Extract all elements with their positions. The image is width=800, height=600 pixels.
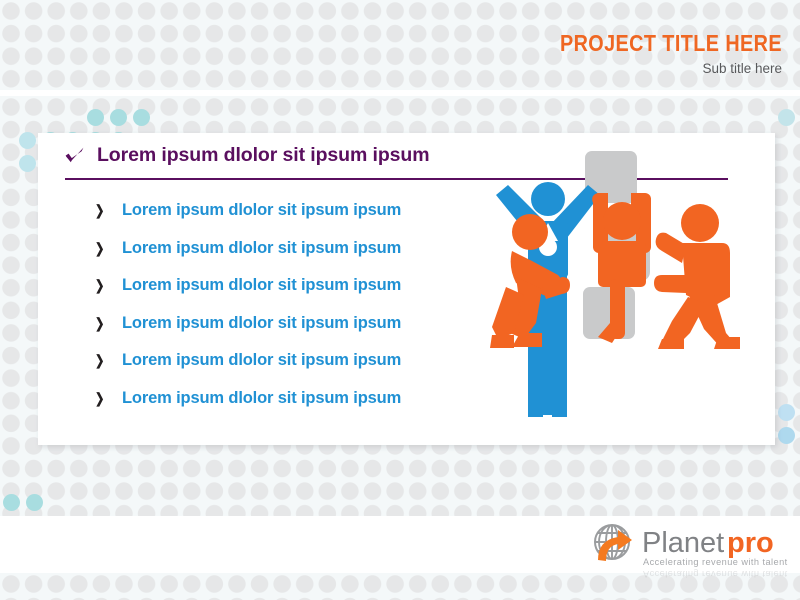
accent-dot (26, 494, 43, 511)
logo-tagline: Accelerating revenue with talent (643, 557, 788, 567)
page-title: PROJECT TITLE HERE (109, 30, 782, 56)
content-card: Lorem ipsum dlolor sit ipsum ipsum ❯ Lor… (38, 133, 775, 445)
list-item: ❯ Lorem ipsum dlolor sit ipsum ipsum (92, 237, 512, 275)
logo-tagline-reflection: Accelerating revenue with talent (643, 569, 788, 578)
list-item-label: Lorem ipsum dlolor sit ipsum ipsum (122, 274, 401, 296)
logo-word-two: pro (727, 527, 774, 559)
list-item: ❯ Lorem ipsum dlolor sit ipsum ipsum (92, 349, 512, 387)
card-heading-text: Lorem ipsum dlolor sit ipsum ipsum (97, 144, 429, 167)
accent-dot (133, 109, 150, 126)
chevron-right-icon: ❯ (95, 274, 119, 296)
list-item-label: Lorem ipsum dlolor sit ipsum ipsum (122, 199, 401, 221)
check-icon (64, 145, 86, 167)
chevron-right-icon: ❯ (95, 312, 119, 334)
team-member-right (654, 204, 740, 349)
accent-dot (87, 109, 104, 126)
accent-dot (778, 427, 795, 444)
list-item: ❯ Lorem ipsum dlolor sit ipsum ipsum (92, 274, 512, 312)
chevron-right-icon: ❯ (95, 199, 119, 221)
list-item-label: Lorem ipsum dlolor sit ipsum ipsum (122, 349, 401, 371)
accent-dot (778, 404, 795, 421)
accent-dot (778, 109, 795, 126)
logo-svg: Planet pro Accelerating revenue with tal… (588, 520, 788, 578)
chevron-right-icon: ❯ (95, 349, 119, 371)
teamwork-illustration (490, 147, 766, 427)
list-item-label: Lorem ipsum dlolor sit ipsum ipsum (122, 312, 401, 334)
chevron-right-icon: ❯ (95, 387, 119, 409)
accent-dot (3, 494, 20, 511)
list-item: ❯ Lorem ipsum dlolor sit ipsum ipsum (92, 199, 512, 237)
list-item: ❯ Lorem ipsum dlolor sit ipsum ipsum (92, 387, 512, 425)
slide-header: PROJECT TITLE HERE Sub title here (0, 30, 782, 79)
planetpro-logo: Planet pro Accelerating revenue with tal… (588, 520, 788, 578)
page-subtitle: Sub title here (0, 59, 782, 79)
logo-word-one: Planet (642, 527, 724, 559)
accent-dot (19, 132, 36, 149)
list-item-label: Lorem ipsum dlolor sit ipsum ipsum (122, 237, 401, 259)
accent-dot (110, 109, 127, 126)
accent-dot (19, 155, 36, 172)
bullet-list: ❯ Lorem ipsum dlolor sit ipsum ipsum ❯ L… (92, 199, 512, 424)
chevron-right-icon: ❯ (95, 237, 119, 259)
list-item-label: Lorem ipsum dlolor sit ipsum ipsum (122, 387, 401, 409)
list-item: ❯ Lorem ipsum dlolor sit ipsum ipsum (92, 312, 512, 350)
globe-arrow-icon (594, 524, 632, 561)
